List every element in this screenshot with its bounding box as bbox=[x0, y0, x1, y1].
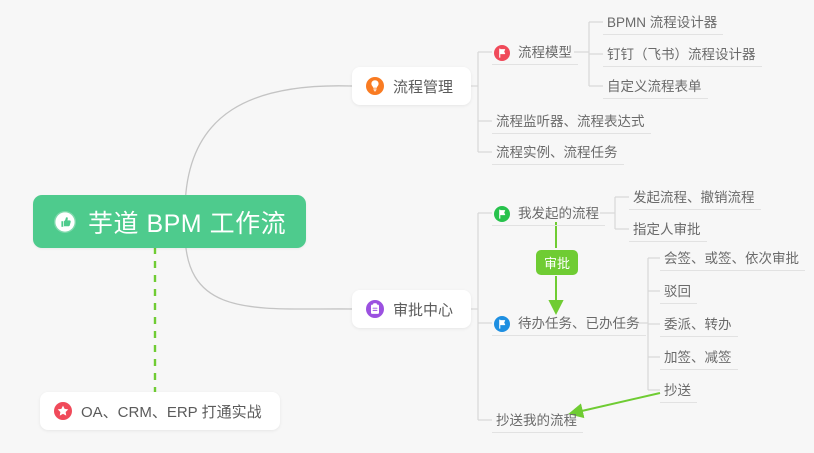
node-label: 驳回 bbox=[664, 280, 691, 300]
clipboard-icon bbox=[366, 300, 384, 318]
branch-process-management[interactable]: 流程管理 bbox=[352, 67, 471, 105]
node-reject[interactable]: 驳回 bbox=[660, 277, 697, 304]
node-label: 我发起的流程 bbox=[518, 202, 599, 222]
node-label: 自定义流程表单 bbox=[607, 75, 702, 95]
node-label: 加签、减签 bbox=[664, 346, 732, 366]
node-custom-process-form[interactable]: 自定义流程表单 bbox=[603, 72, 708, 99]
flag-icon bbox=[494, 316, 510, 332]
branch-approval-center[interactable]: 审批中心 bbox=[352, 290, 471, 328]
arrow-cc-to-my-cc-process bbox=[573, 393, 660, 413]
node-label: 待办任务、已办任务 bbox=[518, 312, 640, 332]
flag-icon bbox=[494, 206, 510, 222]
node-process-model[interactable]: 流程模型 bbox=[492, 38, 578, 65]
node-delegate-transfer[interactable]: 委派、转办 bbox=[660, 310, 738, 337]
node-start-cancel-process[interactable]: 发起流程、撤销流程 bbox=[629, 183, 761, 210]
node-label: 钉钉（飞书）流程设计器 bbox=[607, 43, 756, 63]
node-label: 会签、或签、依次审批 bbox=[664, 247, 799, 267]
mindmap-canvas: 芋道 BPM 工作流 流程管理 流程模型 BPMN 流程设计器 钉钉（飞书）流程… bbox=[0, 0, 814, 453]
lightbulb-icon bbox=[366, 77, 384, 95]
branch-label: 流程管理 bbox=[393, 76, 453, 97]
node-my-submitted-processes[interactable]: 我发起的流程 bbox=[492, 199, 605, 226]
edge-root-to-process-management bbox=[185, 86, 352, 212]
node-carbon-copy[interactable]: 抄送 bbox=[660, 376, 697, 403]
node-label: 流程模型 bbox=[518, 41, 572, 61]
node-cc-to-me-processes[interactable]: 抄送我的流程 bbox=[492, 406, 583, 433]
node-label: 发起流程、撤销流程 bbox=[633, 186, 755, 206]
flag-icon bbox=[494, 45, 510, 61]
node-countersign-orsign-sequential[interactable]: 会签、或签、依次审批 bbox=[660, 244, 805, 271]
node-label: BPMN 流程设计器 bbox=[607, 11, 717, 31]
arrow-tag-approval: 审批 bbox=[536, 250, 578, 275]
node-assigned-approver[interactable]: 指定人审批 bbox=[629, 215, 707, 242]
node-label: 委派、转办 bbox=[664, 313, 732, 333]
floating-node-label: OA、CRM、ERP 打通实战 bbox=[81, 401, 262, 422]
node-todo-done-tasks[interactable]: 待办任务、已办任务 bbox=[492, 309, 646, 336]
node-process-instance-task[interactable]: 流程实例、流程任务 bbox=[492, 138, 624, 165]
node-dingtalk-feishu-designer[interactable]: 钉钉（飞书）流程设计器 bbox=[603, 40, 762, 67]
root-node[interactable]: 芋道 BPM 工作流 bbox=[33, 195, 306, 248]
node-process-listener-expression[interactable]: 流程监听器、流程表达式 bbox=[492, 107, 651, 134]
branch-label: 审批中心 bbox=[393, 299, 453, 320]
floating-node-integration[interactable]: OA、CRM、ERP 打通实战 bbox=[40, 392, 280, 430]
star-icon bbox=[54, 402, 72, 420]
node-label: 抄送我的流程 bbox=[496, 409, 577, 429]
node-label: 抄送 bbox=[664, 379, 691, 399]
node-add-remove-signer[interactable]: 加签、减签 bbox=[660, 343, 738, 370]
thumbs-up-icon bbox=[53, 210, 77, 234]
node-label: 流程实例、流程任务 bbox=[496, 141, 618, 161]
node-label: 流程监听器、流程表达式 bbox=[496, 110, 645, 130]
arrow-tag-label: 审批 bbox=[544, 253, 570, 272]
node-bpmn-designer[interactable]: BPMN 流程设计器 bbox=[603, 8, 723, 35]
node-label: 指定人审批 bbox=[633, 218, 701, 238]
root-label: 芋道 BPM 工作流 bbox=[88, 204, 286, 240]
